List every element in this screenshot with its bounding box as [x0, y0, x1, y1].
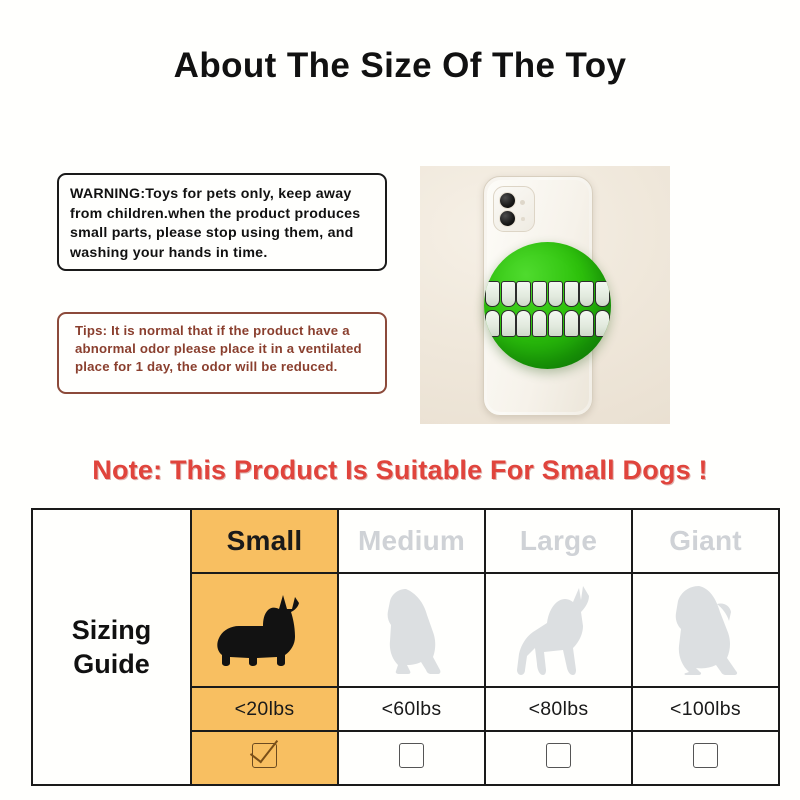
checkbox-small[interactable] [252, 743, 277, 768]
silhouette-cell-large [485, 573, 632, 687]
weight-cell-large: <80lbs [485, 687, 632, 731]
large-sitting-dog-silhouette-icon [665, 584, 747, 676]
page-title: About The Size Of The Toy [0, 46, 800, 86]
silhouette-cell-small [191, 573, 338, 687]
tooth [516, 310, 531, 337]
camera-lens-icon [499, 210, 516, 227]
phone-camera-module [493, 186, 535, 232]
size-header-small[interactable]: Small [191, 509, 338, 573]
table-row-size-names: Sizing Guide Small Medium Large Giant [32, 509, 779, 573]
sitting-dog-silhouette-icon [376, 585, 448, 675]
tooth [516, 281, 531, 307]
note-line: Note: This Product Is Suitable For Small… [0, 455, 800, 486]
weight-giant: <100lbs [670, 698, 741, 720]
lower-teeth-row [484, 310, 611, 338]
tooth [485, 310, 500, 337]
tooth [564, 310, 579, 337]
shepherd-dog-silhouette-icon [517, 584, 601, 676]
upper-teeth-row [484, 281, 611, 308]
corgi-dog-silhouette-icon [213, 593, 317, 667]
silhouette-cell-giant [632, 573, 779, 687]
tooth [564, 281, 579, 307]
checkbox-large[interactable] [546, 743, 571, 768]
weight-cell-small: <20lbs [191, 687, 338, 731]
checkbox-cell-giant[interactable] [632, 731, 779, 785]
teeth-graphic [484, 281, 611, 338]
tooth [485, 281, 500, 307]
camera-lens-icon [499, 192, 516, 209]
checkbox-cell-small[interactable] [191, 731, 338, 785]
warning-text: WARNING:Toys for pets only, keep away fr… [70, 185, 374, 263]
tooth [501, 310, 516, 337]
tips-text: Tips: It is normal that if the product h… [75, 322, 373, 377]
size-name-medium: Medium [358, 525, 465, 556]
size-name-large: Large [520, 525, 597, 556]
tooth [595, 310, 610, 337]
tooth [548, 281, 563, 307]
tooth [579, 310, 594, 337]
tooth [501, 281, 516, 307]
tooth [532, 310, 547, 337]
camera-flash-icon [520, 200, 525, 205]
product-photo [420, 166, 670, 424]
weight-cell-medium: <60lbs [338, 687, 485, 731]
silhouette-cell-medium [338, 573, 485, 687]
size-header-large[interactable]: Large [485, 509, 632, 573]
sizing-guide-label: Sizing Guide [32, 509, 191, 785]
checkbox-giant[interactable] [693, 743, 718, 768]
weight-medium: <60lbs [382, 698, 442, 720]
weight-small: <20lbs [235, 698, 295, 720]
sizing-guide-table: Sizing Guide Small Medium Large Giant [31, 508, 780, 786]
weight-cell-giant: <100lbs [632, 687, 779, 731]
size-name-giant: Giant [669, 525, 742, 556]
size-name-small: Small [227, 525, 303, 556]
tooth [532, 281, 547, 307]
tips-callout-box: Tips: It is normal that if the product h… [57, 312, 387, 394]
camera-mic-icon [521, 217, 525, 221]
weight-large: <80lbs [529, 698, 589, 720]
checkbox-cell-medium[interactable] [338, 731, 485, 785]
tooth [579, 281, 594, 307]
checkbox-cell-large[interactable] [485, 731, 632, 785]
size-header-giant[interactable]: Giant [632, 509, 779, 573]
checkbox-medium[interactable] [399, 743, 424, 768]
tooth [548, 310, 563, 337]
size-header-medium[interactable]: Medium [338, 509, 485, 573]
green-teeth-ball-toy [484, 242, 611, 369]
warning-callout-box: WARNING:Toys for pets only, keep away fr… [57, 173, 387, 271]
tooth [595, 281, 610, 307]
